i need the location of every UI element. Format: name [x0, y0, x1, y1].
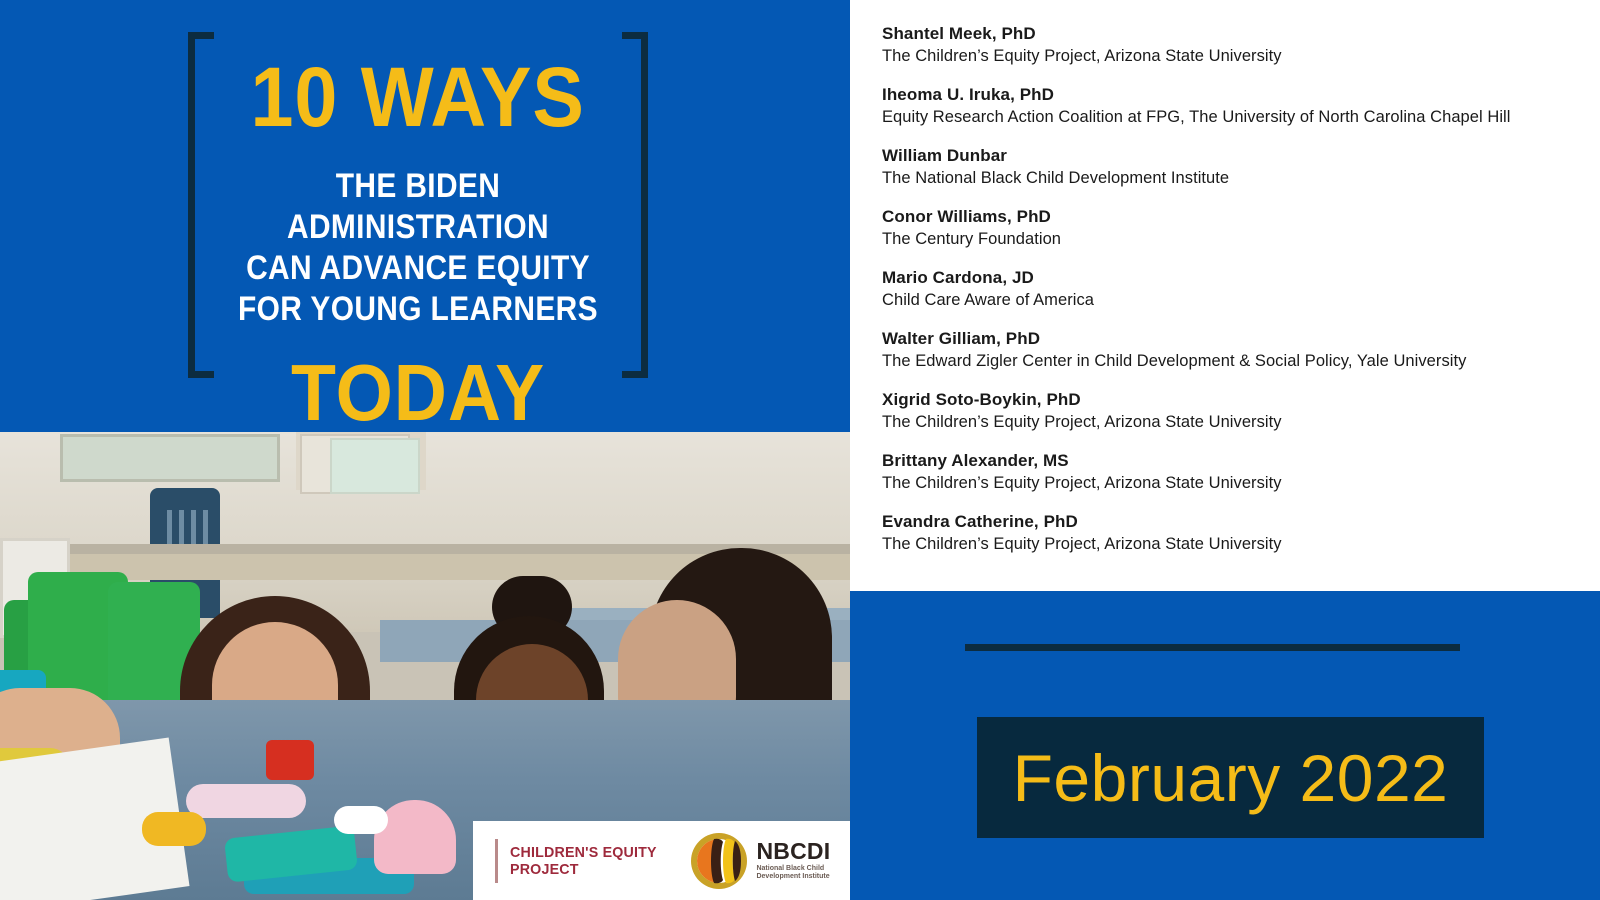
- author-name: Brittany Alexander, MS: [882, 449, 1582, 472]
- author-name: William Dunbar: [882, 144, 1582, 167]
- author-entry: Walter Gilliam, PhD The Edward Zigler Ce…: [882, 327, 1582, 373]
- author-entry: Iheoma U. Iruka, PhD Equity Research Act…: [882, 83, 1582, 129]
- date-panel: February 2022: [850, 591, 1600, 900]
- author-list: Shantel Meek, PhD The Children’s Equity …: [882, 22, 1582, 556]
- title-subtitle-line-2: CAN ADVANCE EQUITY: [216, 248, 621, 289]
- nbcdi-mark-icon: [690, 832, 748, 890]
- title-subtitle-line-3: FOR YOUNG LEARNERS: [216, 289, 621, 330]
- author-entry: Shantel Meek, PhD The Children’s Equity …: [882, 22, 1582, 68]
- author-name: Evandra Catherine, PhD: [882, 510, 1582, 533]
- photo-poster-b: [330, 438, 420, 494]
- childrens-equity-project-logo: CHILDREN'S EQUITY PROJECT: [495, 839, 664, 883]
- author-entry: Mario Cardona, JD Child Care Aware of Am…: [882, 266, 1582, 312]
- right-column: Shantel Meek, PhD The Children’s Equity …: [850, 0, 1600, 900]
- cep-logo-text: CHILDREN'S EQUITY PROJECT: [510, 844, 657, 878]
- photo-toy-yellow: [142, 812, 206, 846]
- nbcdi-logo: NBCDI National Black Child Development I…: [690, 832, 830, 890]
- photo-toy-pink-case: [186, 784, 306, 818]
- photo-toy-saucer: [334, 806, 388, 834]
- title-today: TODAY: [291, 352, 545, 434]
- author-affiliation: The Century Foundation: [882, 228, 1582, 251]
- date-divider-rule: [965, 644, 1460, 651]
- author-affiliation: The Children’s Equity Project, Arizona S…: [882, 472, 1582, 495]
- author-entry: Conor Williams, PhD The Century Foundati…: [882, 205, 1582, 251]
- date-box: February 2022: [977, 717, 1484, 838]
- cep-logo-line-1: CHILDREN'S EQUITY: [510, 844, 657, 861]
- title-subtitle: THE BIDEN ADMINISTRATION CAN ADVANCE EQU…: [216, 166, 621, 330]
- photo-red-cup: [266, 740, 314, 780]
- author-entry: Xigrid Soto-Boykin, PhD The Children’s E…: [882, 388, 1582, 434]
- author-entry: Brittany Alexander, MS The Children’s Eq…: [882, 449, 1582, 495]
- author-name: Mario Cardona, JD: [882, 266, 1582, 289]
- author-affiliation: Equity Research Action Coalition at FPG,…: [882, 106, 1582, 129]
- publication-date: February 2022: [1013, 745, 1449, 811]
- author-affiliation: The Children’s Equity Project, Arizona S…: [882, 533, 1582, 556]
- author-name: Shantel Meek, PhD: [882, 22, 1582, 45]
- author-affiliation: The Children’s Equity Project, Arizona S…: [882, 411, 1582, 434]
- title-text-group: 10 WAYS THE BIDEN ADMINISTRATION CAN ADV…: [188, 32, 648, 378]
- author-name: Conor Williams, PhD: [882, 205, 1582, 228]
- report-cover-page: 10 WAYS THE BIDEN ADMINISTRATION CAN ADV…: [0, 0, 1600, 900]
- author-entry: Evandra Catherine, PhD The Children’s Eq…: [882, 510, 1582, 556]
- author-affiliation: The Children’s Equity Project, Arizona S…: [882, 45, 1582, 68]
- author-entry: William Dunbar The National Black Child …: [882, 144, 1582, 190]
- author-affiliation: The Edward Zigler Center in Child Develo…: [882, 350, 1582, 373]
- author-name: Iheoma U. Iruka, PhD: [882, 83, 1582, 106]
- cep-logo-line-2: PROJECT: [510, 861, 657, 878]
- cep-divider-bar: [495, 839, 498, 883]
- title-headline: 10 WAYS: [251, 54, 585, 140]
- nbcdi-text-lockup: NBCDI National Black Child Development I…: [756, 840, 830, 882]
- photo-toy-teapot: [374, 800, 456, 874]
- nbcdi-tagline-line-1: National Black Child: [756, 865, 830, 874]
- author-affiliation: The National Black Child Development Ins…: [882, 167, 1582, 190]
- title-subtitle-line-1: THE BIDEN ADMINISTRATION: [216, 166, 621, 248]
- author-name: Xigrid Soto-Boykin, PhD: [882, 388, 1582, 411]
- nbcdi-tagline-line-2: Development Institute: [756, 873, 830, 882]
- author-name: Walter Gilliam, PhD: [882, 327, 1582, 350]
- left-column: 10 WAYS THE BIDEN ADMINISTRATION CAN ADV…: [0, 0, 850, 900]
- logo-strip: CHILDREN'S EQUITY PROJECT NBC: [473, 821, 850, 900]
- author-affiliation: Child Care Aware of America: [882, 289, 1582, 312]
- photo-bulletin-board: [60, 434, 280, 482]
- nbcdi-tagline: National Black Child Development Institu…: [756, 865, 830, 882]
- nbcdi-acronym: NBCDI: [756, 840, 830, 863]
- title-block: 10 WAYS THE BIDEN ADMINISTRATION CAN ADV…: [0, 0, 850, 432]
